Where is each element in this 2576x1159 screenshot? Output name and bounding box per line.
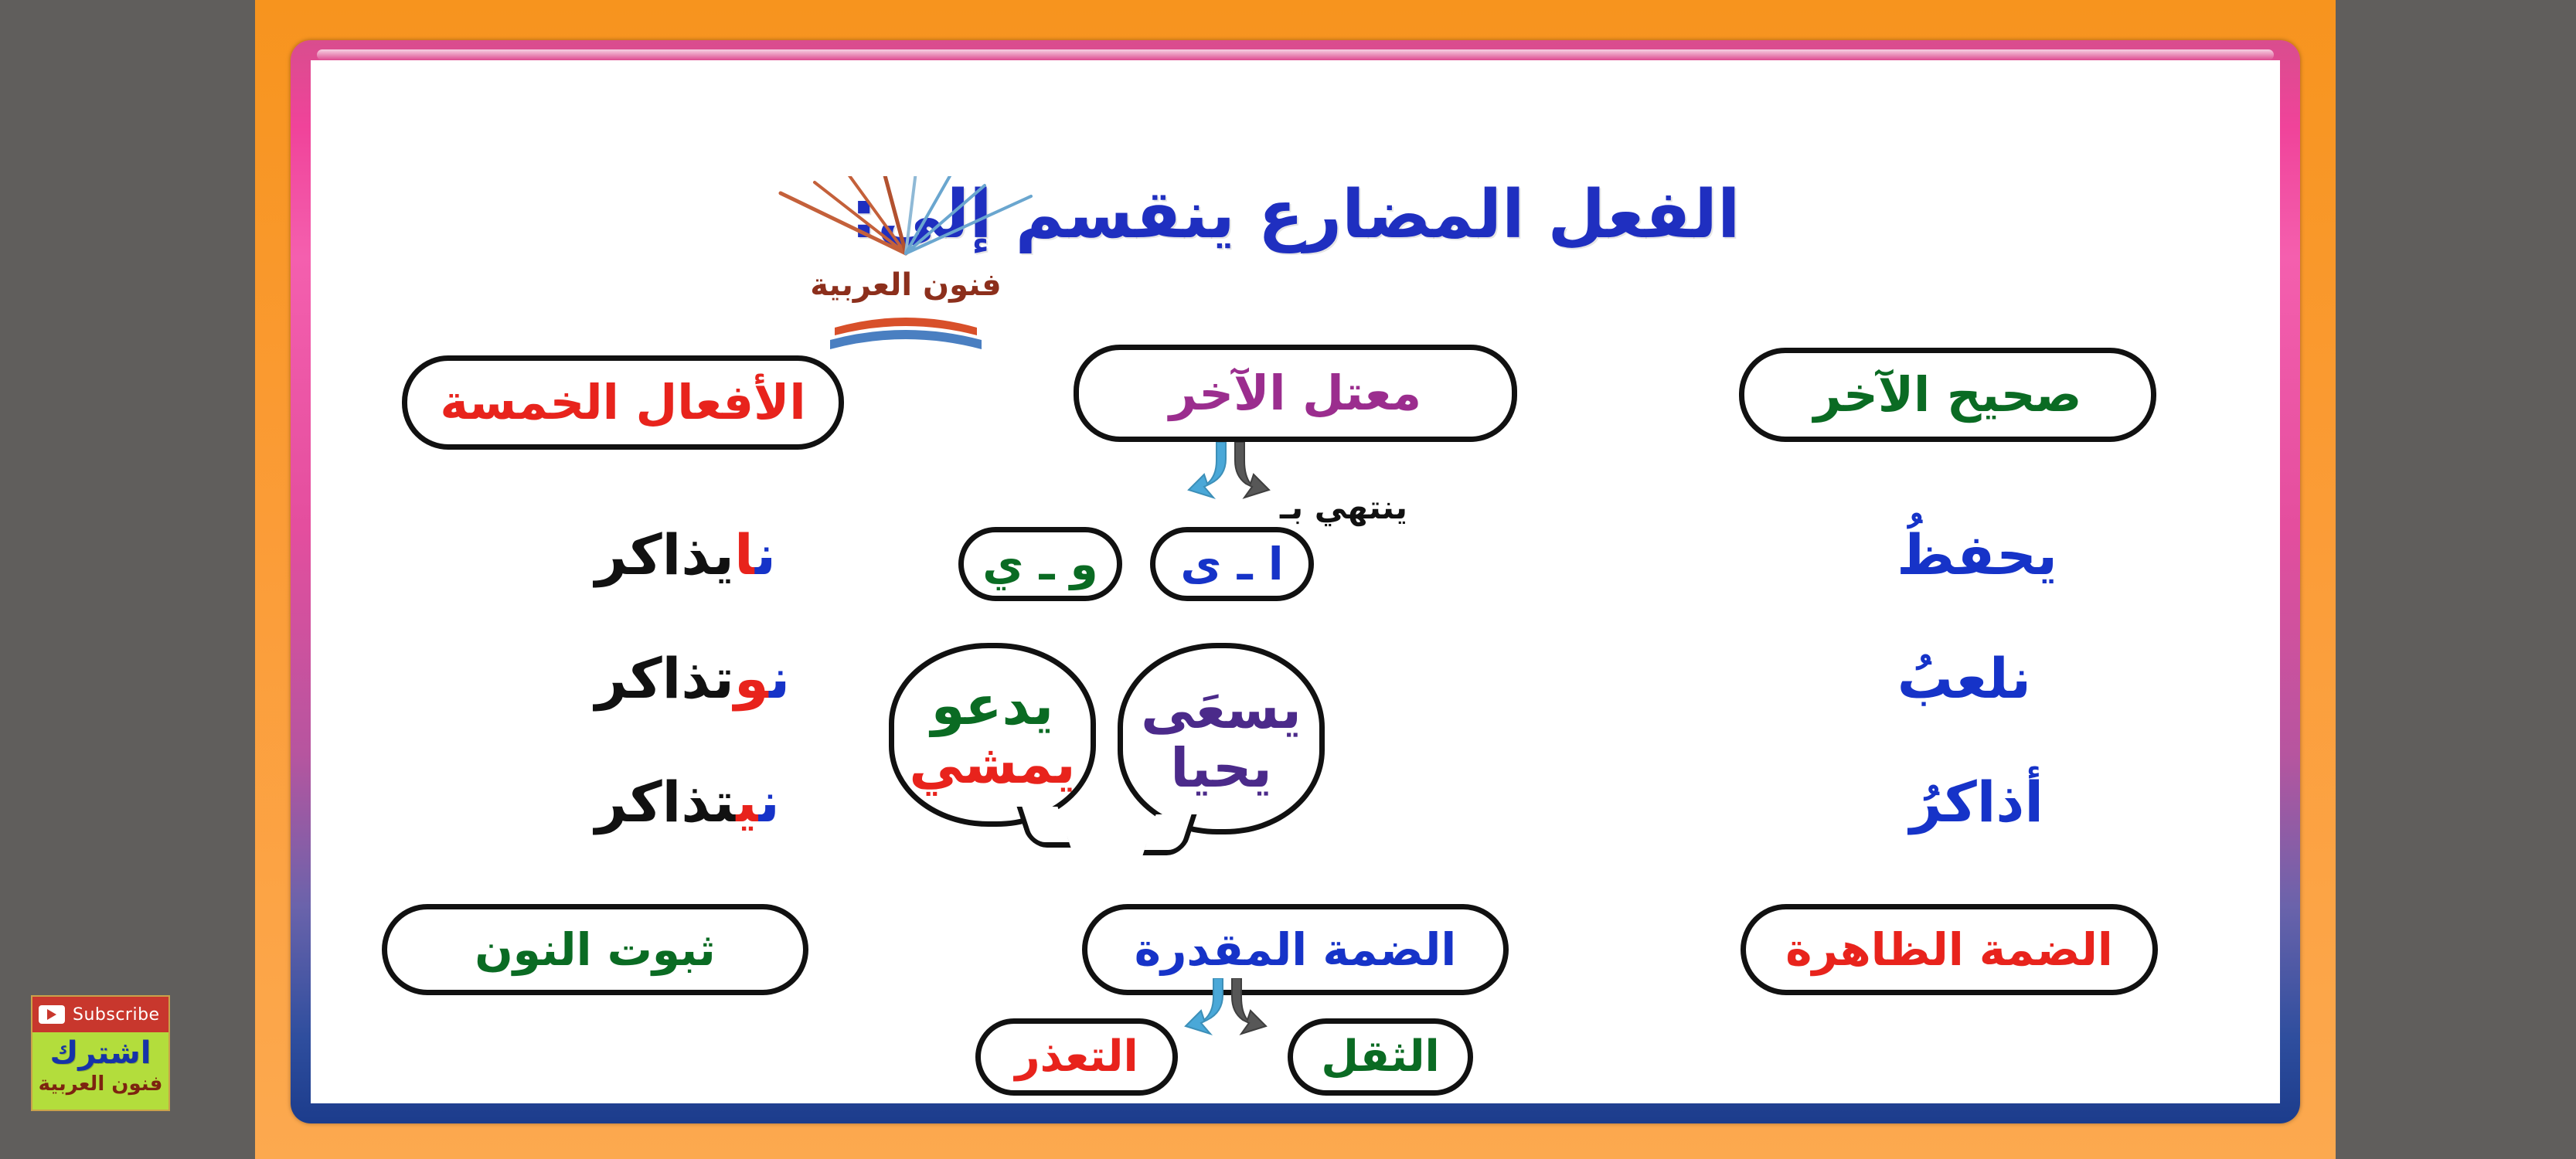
- book-page-blue-icon: [830, 330, 982, 349]
- heading-afaal-khamsa[interactable]: الأفعال الخمسة: [402, 355, 844, 450]
- page-title: الفعل المضارع ينقسم إلى:: [311, 176, 2280, 253]
- heading-mutall-label: معتل الآخر: [1169, 369, 1421, 417]
- logo-rays-icon: [744, 176, 1068, 354]
- reason-ataathur-label: التعذر: [1015, 1035, 1138, 1079]
- footer-thuboot-label: ثبوت النون: [475, 927, 716, 972]
- example-uthakiru: أذاكرُ: [1910, 774, 2043, 830]
- inner-gradient-frame: الفعل المضارع ينقسم إلى:: [291, 40, 2300, 1123]
- marker-letter: و: [734, 646, 769, 711]
- heading-mutall-al-akhir[interactable]: معتل الآخر: [1074, 345, 1517, 442]
- letter-box-waw-label: و ـ ي: [982, 542, 1097, 586]
- verb-stem: تذاكر: [595, 770, 736, 834]
- marker-letter: ي: [736, 770, 758, 834]
- footer-damma-muqaddara-label: الضمة المقدرة: [1135, 927, 1456, 972]
- bubble-tail-icon: [1016, 807, 1070, 848]
- reason-athiqal[interactable]: الثقل: [1288, 1018, 1473, 1096]
- verb-stem: تذاكر: [595, 646, 734, 711]
- example-tuthakiroon: نوتذاكر: [595, 651, 790, 706]
- letter-box-waw-ya[interactable]: و ـ ي: [958, 527, 1122, 601]
- example-tuthakireen: نيتذاكر: [595, 774, 780, 830]
- example-yahfazu: يحفظُ: [1897, 527, 2057, 583]
- subscribe-watermark[interactable]: Subscribe اشترك فنون العربية: [31, 995, 170, 1111]
- example-yuthakiran: نايذاكر: [595, 527, 776, 583]
- footer-damma-zahira[interactable]: الضمة الظاهرة: [1741, 904, 2158, 995]
- letter-box-alif-label: ا ـ ى: [1180, 542, 1283, 586]
- example-nalabu: نلعبُ: [1897, 651, 2031, 706]
- bubble-word-yadu: يدعو: [931, 678, 1053, 732]
- brand-logo: فنون العربية: [744, 176, 1068, 354]
- marker-letter: ا: [734, 522, 755, 587]
- reason-athiqal-label: الثقل: [1321, 1035, 1439, 1079]
- suffix-noon: ن: [755, 522, 776, 587]
- letter-box-alif-alifmaqsura[interactable]: ا ـ ى: [1150, 527, 1314, 601]
- bubble-word-yahya: يحيا: [1170, 741, 1272, 795]
- footer-damma-muqaddara[interactable]: الضمة المقدرة: [1082, 904, 1509, 995]
- suffix-noon: ن: [769, 646, 790, 711]
- bubble-yadu-yamshi[interactable]: يدعو يمشي: [889, 643, 1096, 827]
- ends-with-label: ينتهي بـ: [1280, 491, 1407, 524]
- reason-ataathur[interactable]: التعذر: [975, 1018, 1178, 1096]
- bubble-word-yasaa: يسعَى: [1141, 682, 1302, 736]
- whiteboard-canvas: الفعل المضارع ينقسم إلى:: [311, 60, 2280, 1103]
- bubble-yasaa-yahya[interactable]: يسعَى يحيا: [1118, 643, 1325, 834]
- subscribe-bar[interactable]: Subscribe: [32, 997, 168, 1032]
- footer-damma-zahira-label: الضمة الظاهرة: [1785, 927, 2113, 972]
- footer-thuboot-annoon[interactable]: ثبوت النون: [382, 904, 808, 995]
- watermark-brand: فنون العربية: [32, 1072, 168, 1096]
- bubble-word-yamshi: يمشي: [909, 737, 1075, 791]
- suffix-noon: ن: [759, 770, 780, 834]
- slide-stage: الفعل المضارع ينقسم إلى:: [255, 0, 2336, 1159]
- bubble-tail-icon: [1142, 814, 1196, 855]
- heading-sahih-al-akhir[interactable]: صحيح الآخر: [1739, 348, 2156, 442]
- fork-arrow-middle-top: [1183, 442, 1275, 504]
- subscribe-arabic-label: اشترك: [32, 1035, 168, 1071]
- verb-stem: يذاكر: [595, 522, 734, 587]
- heading-afaal-label: الأفعال الخمسة: [440, 379, 805, 427]
- fork-arrow-middle-bottom: [1179, 978, 1272, 1040]
- subscribe-label: Subscribe: [73, 1005, 160, 1025]
- heading-sahih-label: صحيح الآخر: [1814, 371, 2082, 419]
- logo-brand-text: فنون العربية: [744, 267, 1068, 303]
- play-icon: [39, 1005, 65, 1024]
